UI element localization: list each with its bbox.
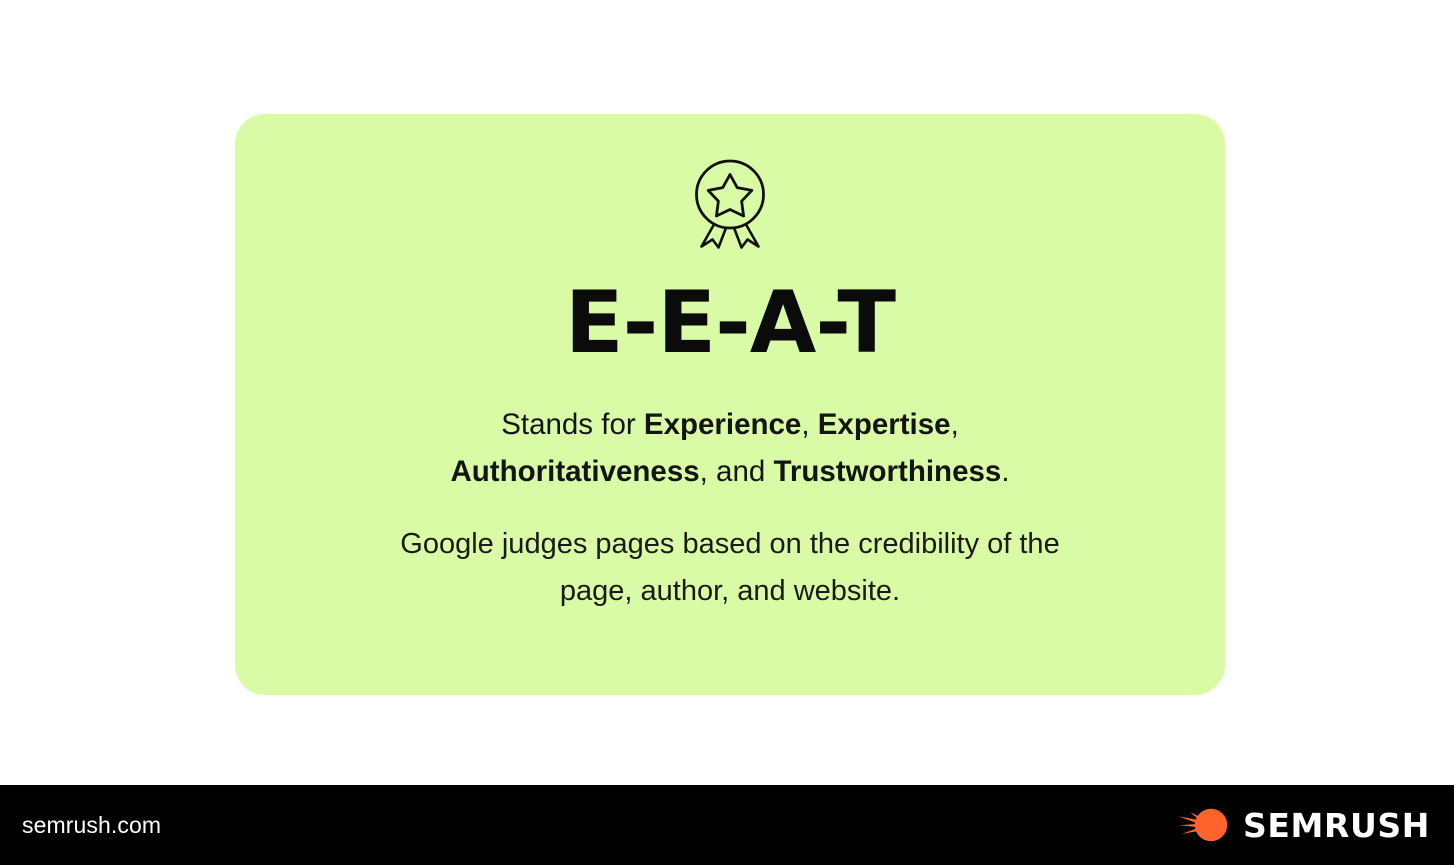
footer-bar: semrush.com SEMRUSH	[0, 785, 1454, 865]
lead-suffix: .	[1001, 455, 1009, 488]
award-badge-icon	[691, 158, 769, 250]
page-title: E-E-A-T	[565, 280, 895, 366]
eeat-definition-card: E-E-A-T Stands for Experience, Expertise…	[235, 114, 1225, 695]
footer-url-text: semrush.com	[22, 812, 161, 839]
semrush-wordmark: SEMRUSH	[1243, 809, 1430, 842]
description-text: Google judges pages based on the credibi…	[370, 521, 1090, 615]
term-expertise: Expertise	[818, 408, 951, 441]
acronym-expansion-text: Stands for Experience, Expertise, Author…	[380, 402, 1080, 495]
lead-sep-2: ,	[951, 408, 959, 441]
lead-sep-1: ,	[801, 408, 817, 441]
term-trustworthiness: Trustworthiness	[773, 455, 1001, 488]
lead-prefix: Stands for	[501, 408, 644, 441]
lead-sep-3: , and	[700, 455, 774, 488]
semrush-comet-logo	[1178, 808, 1230, 842]
term-authoritativeness: Authoritativeness	[450, 455, 699, 488]
semrush-brand-lockup: SEMRUSH	[1178, 808, 1430, 842]
slide-canvas: E-E-A-T Stands for Experience, Expertise…	[0, 0, 1454, 785]
term-experience: Experience	[644, 408, 801, 441]
